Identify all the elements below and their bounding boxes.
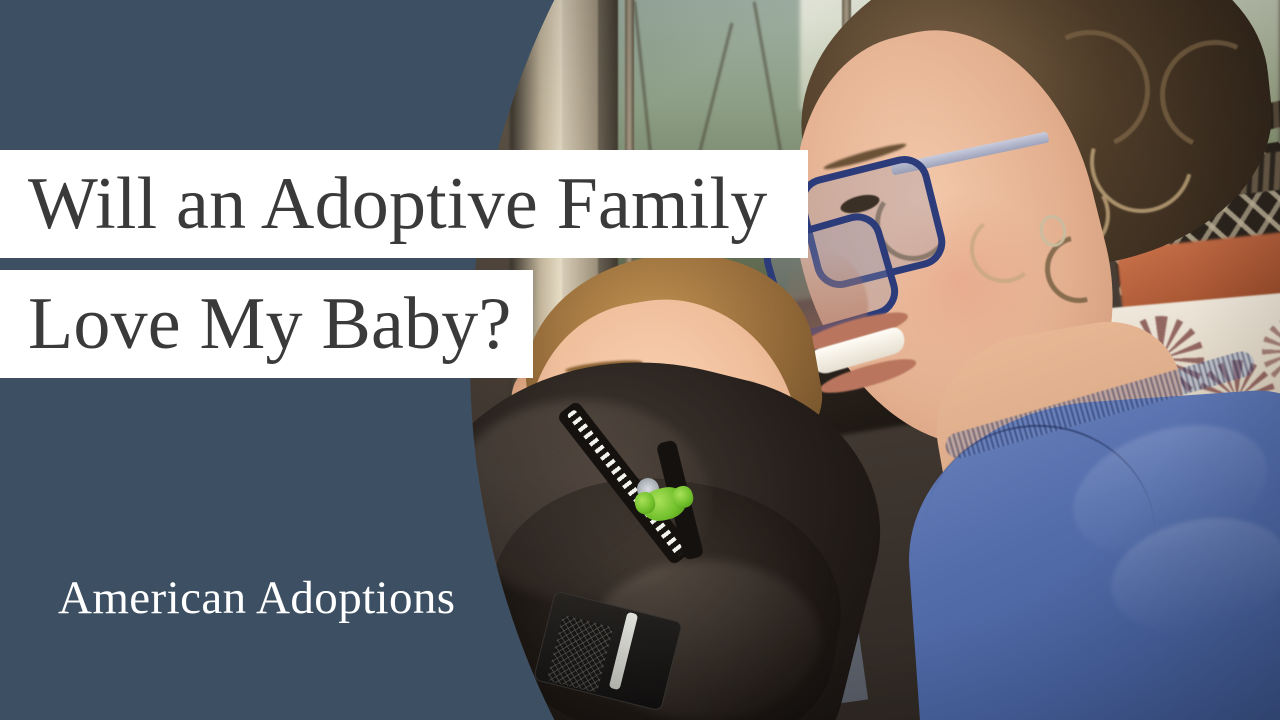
brand-name: American Adoptions xyxy=(58,575,456,622)
title-line-2-box: Love My Baby? xyxy=(0,270,533,378)
photo-content xyxy=(470,0,1280,720)
title-line-1-box: Will an Adoptive Family xyxy=(0,150,808,258)
photo-vignette xyxy=(470,0,1280,720)
title-line-2-text: Love My Baby? xyxy=(28,287,512,361)
video-thumbnail: Will an Adoptive Family Love My Baby? Am… xyxy=(0,0,1280,720)
photo-circle xyxy=(470,0,1280,720)
title-line-1-text: Will an Adoptive Family xyxy=(28,167,768,241)
